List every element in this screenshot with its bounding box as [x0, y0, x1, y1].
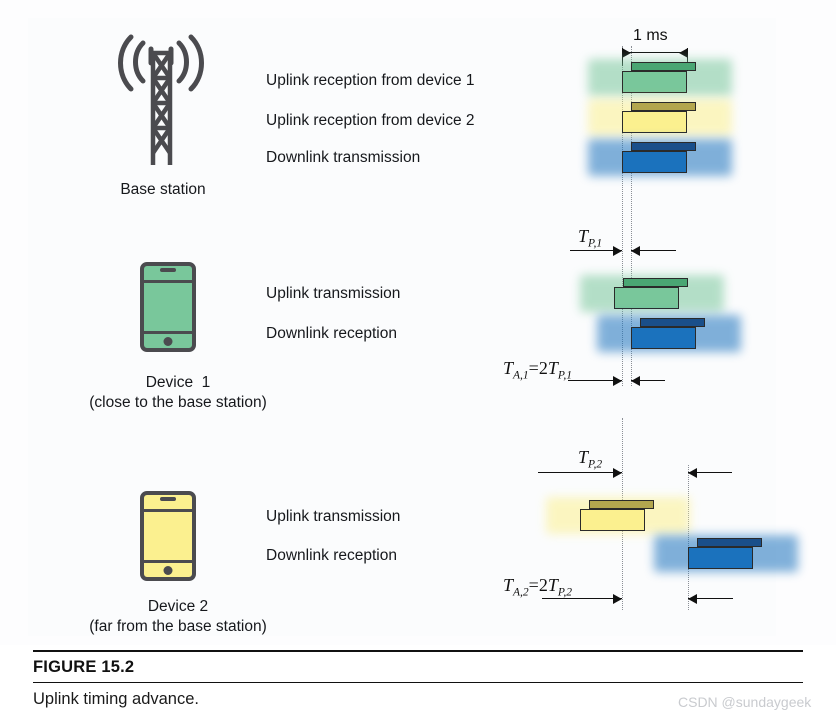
row-label-dev2-downlink: Downlink reception	[266, 547, 397, 565]
phone-top-divider	[140, 280, 196, 283]
device-1-label: Device 1	[28, 373, 328, 393]
device-1-sublabel: (close to the base station)	[28, 393, 328, 413]
watermark-label: CSDN @sundaygeek	[678, 694, 811, 710]
phone-bottom-divider	[140, 331, 196, 334]
smartphone-icon-device-1	[140, 262, 196, 352]
row-label-bs-downlink: Downlink transmission	[266, 149, 420, 167]
phone-speaker-icon	[160, 268, 176, 272]
row-label-dev1-uplink: Uplink transmission	[266, 285, 400, 303]
figure-number-label: FIGURE 15.2	[33, 658, 134, 677]
phone-bottom-divider	[140, 560, 196, 563]
device-2-sublabel: (far from the base station)	[28, 617, 328, 637]
row-label-dev2-uplink: Uplink transmission	[266, 508, 400, 526]
device-2-label: Device 2	[28, 597, 328, 617]
smartphone-icon-device-2	[140, 491, 196, 581]
phone-speaker-icon	[160, 497, 176, 501]
row-label-bs-uplink-device-2: Uplink reception from device 2	[266, 112, 475, 130]
figure-canvas: Base station Device 1 (close to the base…	[0, 0, 836, 645]
phone-home-button-icon	[164, 337, 173, 346]
phone-home-button-icon	[164, 566, 173, 575]
cell-tower-icon	[113, 33, 209, 173]
caption-rule-bottom	[33, 682, 803, 683]
row-label-dev1-downlink: Downlink reception	[266, 325, 397, 343]
caption-rule-top	[33, 650, 803, 652]
base-station-label: Base station	[63, 180, 263, 200]
phone-top-divider	[140, 509, 196, 512]
figure-caption-text: Uplink timing advance.	[33, 690, 199, 709]
row-label-bs-uplink-device-1: Uplink reception from device 1	[266, 72, 475, 90]
